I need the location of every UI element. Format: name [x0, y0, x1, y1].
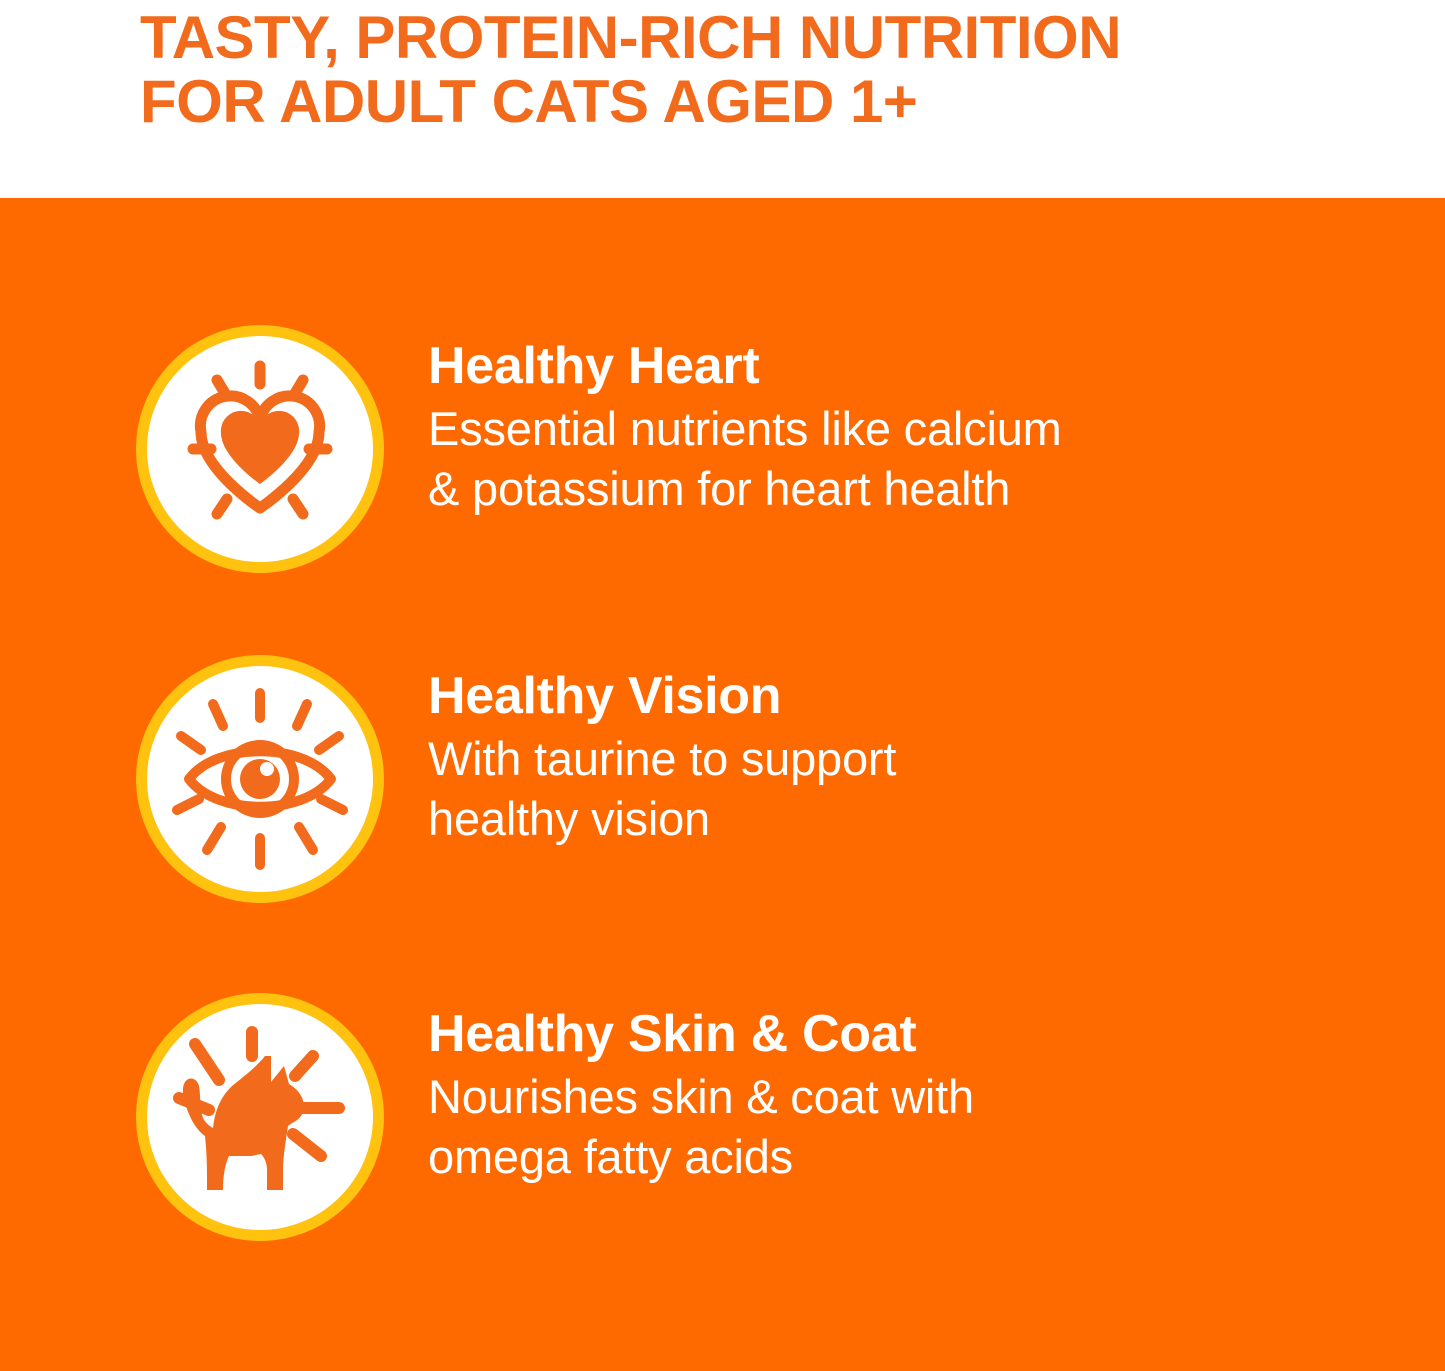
feature-title: Healthy Heart [428, 339, 1328, 393]
feature-row: Healthy Heart Essential nutrients like c… [0, 325, 1445, 575]
feature-description: With taurine to support healthy vision [428, 729, 1328, 849]
benefits-panel: Healthy Heart Essential nutrients like c… [0, 198, 1445, 1371]
radiant-cat-icon [136, 993, 384, 1241]
radiant-eye-icon [136, 655, 384, 903]
feature-text-block: Healthy Skin & Coat Nourishes skin & coa… [428, 993, 1328, 1187]
header-band: TASTY, PROTEIN-RICH NUTRITION FOR ADULT … [0, 0, 1445, 198]
feature-description: Essential nutrients like calcium & potas… [428, 399, 1328, 519]
feature-row: Healthy Vision With taurine to support h… [0, 655, 1445, 905]
heart-glyph [147, 336, 373, 562]
feature-title: Healthy Vision [428, 669, 1328, 723]
cat-glyph [147, 1004, 373, 1230]
feature-text-block: Healthy Heart Essential nutrients like c… [428, 325, 1328, 519]
feature-text-block: Healthy Vision With taurine to support h… [428, 655, 1328, 849]
feature-row: Healthy Skin & Coat Nourishes skin & coa… [0, 993, 1445, 1243]
page-headline: TASTY, PROTEIN-RICH NUTRITION FOR ADULT … [140, 6, 1380, 134]
eye-glyph [147, 666, 373, 892]
feature-title: Healthy Skin & Coat [428, 1007, 1328, 1061]
radiant-heart-icon [136, 325, 384, 573]
feature-description: Nourishes skin & coat with omega fatty a… [428, 1067, 1328, 1187]
